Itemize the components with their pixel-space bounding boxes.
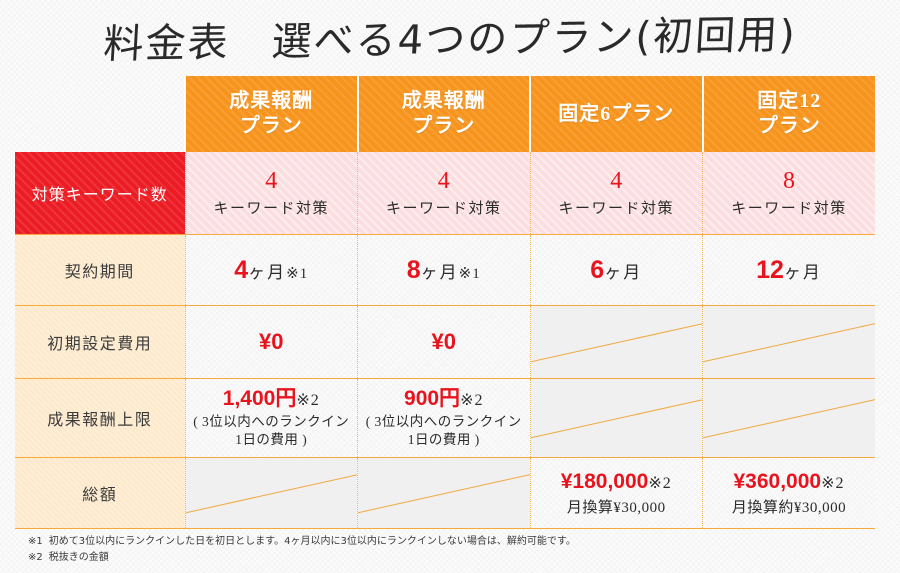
column-header-line1: 成果報酬 [359, 89, 530, 114]
performance-fee-cap-main: 1,400円※2 [186, 387, 358, 411]
cell-keyword-count-plan-2: 4 キーワード対策 [358, 152, 531, 235]
total-amount-main: ¥180,000※2 [531, 469, 703, 494]
performance-fee-cap-amount: 1,400円 [223, 387, 297, 410]
cell-initial-fee-plan-4-not-applicable [703, 306, 876, 379]
row-label-total-amount: 総額 [15, 458, 185, 529]
keyword-count-unit: キーワード対策 [703, 197, 875, 218]
cell-performance-fee-cap-plan-4-not-applicable [703, 379, 876, 458]
cell-total-amount-plan-3: ¥180,000※2 月換算¥30,000 [530, 458, 703, 529]
keyword-count-unit: キーワード対策 [531, 197, 703, 218]
cell-total-amount-plan-2-not-applicable [358, 458, 531, 529]
pricing-table: 成果報酬 プラン 成果報酬 プラン 固定6プラン 固定12 プラン 対策キーワー… [15, 76, 875, 529]
table-header-row: 成果報酬 プラン 成果報酬 プラン 固定6プラン 固定12 プラン [15, 76, 875, 152]
contract-term-unit: ヶ月 [784, 263, 822, 282]
cell-initial-fee-plan-1: ¥0 [185, 306, 358, 379]
column-header-plan-2[interactable]: 成果報酬 プラン [358, 76, 531, 152]
row-label-performance-fee-cap: 成果報酬上限 [15, 379, 185, 458]
keyword-count-value: 8 [703, 168, 875, 194]
header-corner-blank [15, 76, 185, 152]
contract-term-unit: ヶ月 [604, 263, 642, 282]
keyword-count-unit: キーワード対策 [186, 197, 358, 218]
table-row-contract-term: 契約期間 4ヶ月※1 8ヶ月※1 6ヶ月 12ヶ月 [15, 235, 875, 306]
performance-fee-cap-footnote-mark: ※2 [296, 392, 319, 409]
performance-fee-cap-amount: 900円 [404, 387, 460, 410]
column-header-line2: プラン [359, 114, 530, 139]
total-amount-monthly-note: 月換算¥30,000 [531, 496, 703, 517]
footnote-2-mark: ※2 [28, 552, 43, 563]
cell-total-amount-plan-1-not-applicable [185, 458, 358, 529]
column-header-line2: プラン [186, 114, 357, 139]
performance-fee-cap-footnote-mark: ※2 [460, 392, 483, 409]
column-header-plan-1[interactable]: 成果報酬 プラン [185, 76, 358, 152]
initial-fee-value: ¥0 [259, 329, 283, 354]
row-label-initial-fee: 初期設定費用 [15, 306, 185, 379]
cell-performance-fee-cap-plan-3-not-applicable [530, 379, 703, 458]
cell-performance-fee-cap-plan-2: 900円※2 ( 3位以内へのランクイン 1日の費用 ) [358, 379, 531, 458]
cell-keyword-count-plan-4: 8 キーワード対策 [703, 152, 876, 235]
contract-term-footnote-mark: ※1 [459, 266, 481, 282]
column-header-plan-4[interactable]: 固定12 プラン [703, 76, 876, 152]
contract-term-value: 8 [407, 256, 421, 284]
column-header-line2: プラン [704, 114, 876, 139]
cell-performance-fee-cap-plan-1: 1,400円※2 ( 3位以内へのランクイン 1日の費用 ) [185, 379, 358, 458]
table-row-total-amount: 総額 ¥180,000※2 月換算¥30,000 ¥360,000※2 月換算約… [15, 458, 875, 529]
keyword-count-unit: キーワード対策 [358, 197, 530, 218]
performance-fee-cap-note-line2: 1日の費用 ) [358, 431, 530, 449]
page-title: 料金表 選べる4つのプラン(初回用) [102, 2, 799, 70]
performance-fee-cap-main: 900円※2 [358, 387, 530, 411]
row-label-contract-term: 契約期間 [15, 235, 185, 306]
footnote-1-text: 初めて3位以内にランクインした日を初日とします。4ヶ月以内に3位以内にランクイン… [49, 536, 576, 547]
contract-term-footnote-mark: ※1 [286, 266, 308, 282]
performance-fee-cap-note-line1: ( 3位以内へのランクイン [358, 413, 530, 431]
table-row-performance-fee-cap: 成果報酬上限 1,400円※2 ( 3位以内へのランクイン 1日の費用 ) 90… [15, 379, 875, 458]
total-amount-monthly-note: 月換算約¥30,000 [703, 496, 875, 517]
total-amount-main: ¥360,000※2 [703, 469, 875, 494]
cell-contract-term-plan-3: 6ヶ月 [530, 235, 703, 306]
table-row-initial-fee: 初期設定費用 ¥0 ¥0 [15, 306, 875, 379]
keyword-count-value: 4 [358, 168, 530, 194]
contract-term-unit: ヶ月 [248, 263, 286, 282]
keyword-count-value: 4 [531, 168, 703, 194]
cell-keyword-count-plan-1: 4 キーワード対策 [185, 152, 358, 235]
contract-term-value: 12 [756, 256, 784, 284]
performance-fee-cap-note-line1: ( 3位以内へのランクイン [186, 413, 358, 431]
footnote-2: ※2税抜きの金額 [28, 550, 576, 566]
footnote-2-text: 税抜きの金額 [49, 552, 109, 563]
cell-initial-fee-plan-2: ¥0 [358, 306, 531, 379]
contract-term-value: 6 [590, 256, 604, 284]
cell-keyword-count-plan-3: 4 キーワード対策 [530, 152, 703, 235]
cell-initial-fee-plan-3-not-applicable [530, 306, 703, 379]
footnotes: ※1初めて3位以内にランクインした日を初日とします。4ヶ月以内に3位以内にランク… [28, 534, 576, 565]
cell-contract-term-plan-4: 12ヶ月 [703, 235, 876, 306]
cell-contract-term-plan-2: 8ヶ月※1 [358, 235, 531, 306]
total-amount-footnote-mark: ※2 [821, 475, 844, 492]
column-header-plan-3[interactable]: 固定6プラン [530, 76, 703, 152]
column-header-line1: 固定12 [704, 89, 876, 114]
total-amount-footnote-mark: ※2 [648, 475, 671, 492]
row-label-keyword-count: 対策キーワード数 [15, 152, 185, 235]
performance-fee-cap-note-line2: 1日の費用 ) [186, 431, 358, 449]
cell-total-amount-plan-4: ¥360,000※2 月換算約¥30,000 [703, 458, 876, 529]
table-row-keyword-count: 対策キーワード数 4 キーワード対策 4 キーワード対策 4 キーワード対策 8… [15, 152, 875, 235]
contract-term-unit: ヶ月 [421, 263, 459, 282]
keyword-count-value: 4 [186, 168, 358, 194]
footnote-1-mark: ※1 [28, 536, 43, 547]
title-bar: 料金表 選べる4つのプラン(初回用) [0, 0, 900, 72]
footnote-1: ※1初めて3位以内にランクインした日を初日とします。4ヶ月以内に3位以内にランク… [28, 534, 576, 550]
total-amount-value: ¥180,000 [561, 470, 649, 493]
initial-fee-value: ¥0 [432, 329, 456, 354]
contract-term-value: 4 [234, 256, 248, 284]
column-header-line1: 固定6プラン [558, 103, 674, 125]
column-header-line1: 成果報酬 [186, 89, 357, 114]
total-amount-value: ¥360,000 [734, 470, 822, 493]
cell-contract-term-plan-1: 4ヶ月※1 [185, 235, 358, 306]
